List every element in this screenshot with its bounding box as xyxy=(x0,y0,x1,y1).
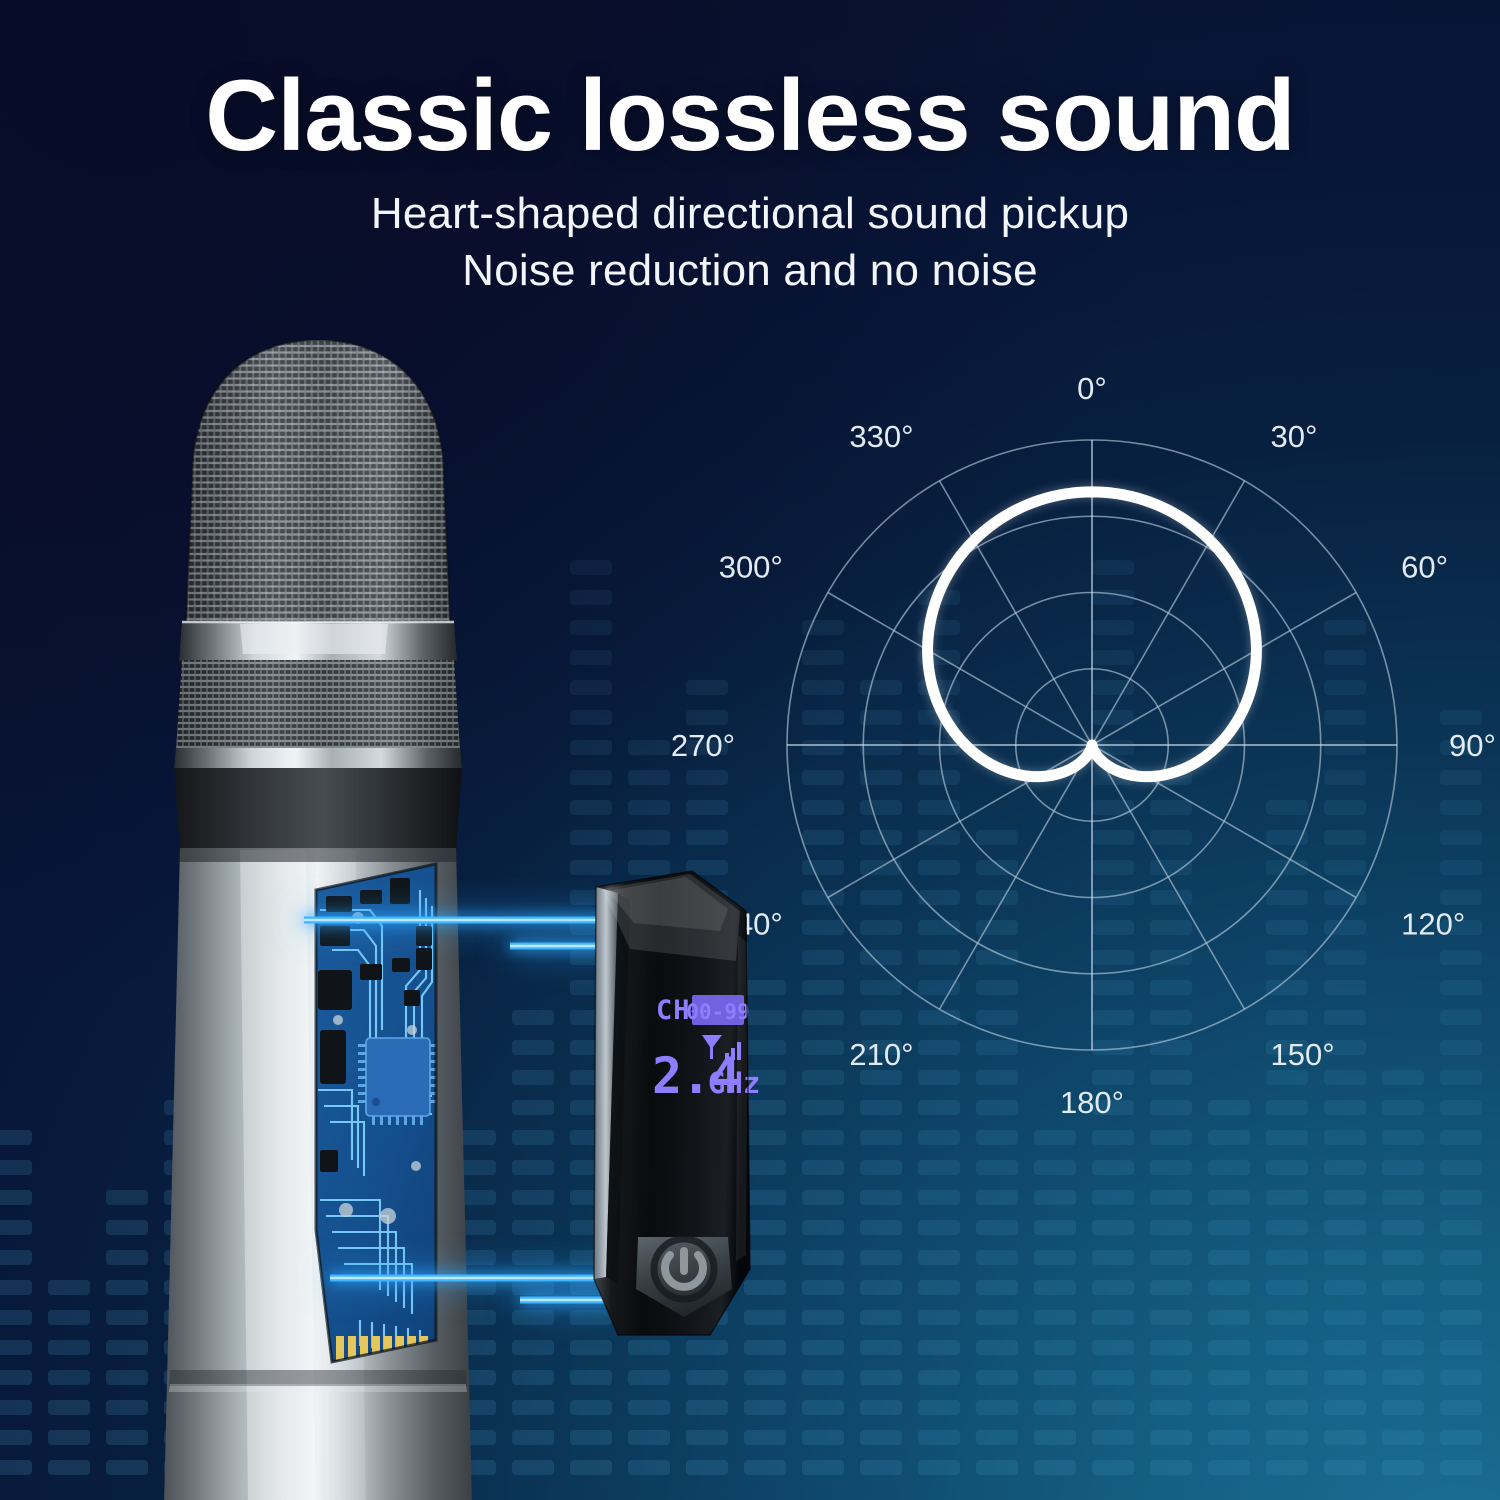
polar-grid-spoke xyxy=(1092,481,1245,745)
equalizer-bar xyxy=(860,1340,902,1355)
equalizer-bar xyxy=(1034,1250,1076,1265)
polar-grid-spoke xyxy=(940,481,1093,745)
equalizer-bar xyxy=(802,1460,844,1475)
equalizer-bar xyxy=(1440,1190,1482,1205)
equalizer-bar xyxy=(1208,1310,1250,1325)
equalizer-bar xyxy=(1150,1430,1192,1445)
equalizer-bar xyxy=(1440,1370,1482,1385)
equalizer-bar xyxy=(1092,1460,1134,1475)
equalizer-bar xyxy=(1382,1190,1424,1205)
equalizer-bar xyxy=(1208,1250,1250,1265)
equalizer-bar xyxy=(1150,1220,1192,1235)
equalizer-bar xyxy=(1266,1280,1308,1295)
equalizer-bar xyxy=(1208,1430,1250,1445)
equalizer-bar xyxy=(1034,1160,1076,1175)
equalizer-bar xyxy=(0,1310,32,1325)
equalizer-bar xyxy=(1092,1250,1134,1265)
lcd-channel-label: CH xyxy=(656,995,691,1026)
equalizer-bar xyxy=(1440,1340,1482,1355)
equalizer-bar xyxy=(1034,1310,1076,1325)
equalizer-bar xyxy=(1382,1250,1424,1265)
equalizer-bar xyxy=(1266,1370,1308,1385)
equalizer-bar xyxy=(1440,1280,1482,1295)
polar-angle-label: 0° xyxy=(1077,371,1107,406)
equalizer-bar xyxy=(1150,1190,1192,1205)
equalizer-bar xyxy=(1324,1280,1366,1295)
equalizer-bar xyxy=(628,1370,670,1385)
equalizer-bar xyxy=(918,1400,960,1415)
lcd-frequency-unit: GHz xyxy=(708,1066,760,1100)
polar-angle-label: 30° xyxy=(1271,419,1318,454)
equalizer-bar xyxy=(976,1310,1018,1325)
equalizer-bar xyxy=(1266,1220,1308,1235)
equalizer-bar xyxy=(1440,1460,1482,1475)
polar-angle-label: 210° xyxy=(849,1037,913,1072)
equalizer-bar xyxy=(1266,1310,1308,1325)
equalizer-bar xyxy=(1266,1340,1308,1355)
equalizer-bar xyxy=(628,830,670,845)
equalizer-bar xyxy=(918,1220,960,1235)
equalizer-bar xyxy=(48,1280,90,1295)
equalizer-bar xyxy=(976,1340,1018,1355)
mic-neck xyxy=(174,768,462,850)
equalizer-bar xyxy=(1440,1430,1482,1445)
equalizer-bar xyxy=(0,1400,32,1415)
equalizer-bar xyxy=(802,1400,844,1415)
equalizer-bar xyxy=(1324,1190,1366,1205)
equalizer-bar xyxy=(1324,1310,1366,1325)
mic-lower-grille-band xyxy=(160,650,490,760)
equalizer-bar xyxy=(1440,1220,1482,1235)
equalizer-bar xyxy=(1208,1340,1250,1355)
equalizer-bar xyxy=(1208,1280,1250,1295)
equalizer-bar xyxy=(628,1400,670,1415)
equalizer-bar xyxy=(1440,1160,1482,1175)
equalizer-bar xyxy=(1150,1160,1192,1175)
equalizer-bar xyxy=(1208,1400,1250,1415)
equalizer-bar xyxy=(1208,1160,1250,1175)
equalizer-bar xyxy=(976,1250,1018,1265)
equalizer-bar xyxy=(918,1310,960,1325)
polar-grid-spoke xyxy=(828,593,1092,746)
equalizer-bar xyxy=(48,1460,90,1475)
equalizer-bar xyxy=(860,1190,902,1205)
polar-angle-label: 90° xyxy=(1449,728,1496,763)
equalizer-bar xyxy=(744,1460,786,1475)
equalizer-bar xyxy=(744,1370,786,1385)
mic-grille-head xyxy=(170,330,480,630)
equalizer-bar xyxy=(686,1460,728,1475)
equalizer-bar xyxy=(1324,1460,1366,1475)
equalizer-bar xyxy=(48,1340,90,1355)
equalizer-bar xyxy=(1382,1460,1424,1475)
equalizer-bar xyxy=(0,1460,32,1475)
equalizer-bar xyxy=(0,1280,32,1295)
equalizer-bar xyxy=(1266,1160,1308,1175)
equalizer-bar xyxy=(1324,1220,1366,1235)
equalizer-bar xyxy=(1092,1430,1134,1445)
equalizer-bar xyxy=(860,1220,902,1235)
equalizer-bar xyxy=(1382,1430,1424,1445)
equalizer-bar xyxy=(1382,1340,1424,1355)
equalizer-bar xyxy=(1324,1400,1366,1415)
polar-angle-label: 150° xyxy=(1271,1037,1335,1072)
equalizer-bar xyxy=(1150,1460,1192,1475)
polar-grid-spoke xyxy=(1092,745,1245,1009)
equalizer-bar xyxy=(1208,1460,1250,1475)
equalizer-bar xyxy=(860,1250,902,1265)
equalizer-bar xyxy=(976,1460,1018,1475)
equalizer-bar xyxy=(1324,1160,1366,1175)
equalizer-bar xyxy=(1208,1190,1250,1205)
equalizer-bar xyxy=(1150,1370,1192,1385)
polar-angle-label: 60° xyxy=(1401,550,1448,585)
equalizer-bar xyxy=(918,1250,960,1265)
equalizer-bar xyxy=(628,770,670,785)
polar-grid-spoke xyxy=(1092,593,1356,746)
equalizer-bar xyxy=(860,1460,902,1475)
equalizer-bar xyxy=(1034,1430,1076,1445)
equalizer-bar xyxy=(0,1220,32,1235)
equalizer-bar xyxy=(860,1280,902,1295)
lcd-channel-value: 00-99 xyxy=(686,1000,749,1024)
polar-angle-label: 330° xyxy=(849,419,913,454)
equalizer-bar xyxy=(918,1460,960,1475)
equalizer-bar xyxy=(1092,1370,1134,1385)
microphone-illustration xyxy=(120,330,600,1500)
equalizer-bar xyxy=(1034,1220,1076,1235)
equalizer-bar xyxy=(1382,1310,1424,1325)
polar-grid-spoke xyxy=(1092,745,1356,898)
equalizer-bar xyxy=(860,1400,902,1415)
equalizer-bar xyxy=(48,1370,90,1385)
equalizer-bar xyxy=(1150,1250,1192,1265)
equalizer-bar xyxy=(918,1370,960,1385)
equalizer-bar xyxy=(1034,1340,1076,1355)
equalizer-bar xyxy=(918,1190,960,1205)
equalizer-bar xyxy=(860,1310,902,1325)
equalizer-bar xyxy=(976,1370,1018,1385)
polar-pattern-chart: 0°30°60°90°120°150°180°210°240°270°300°3… xyxy=(702,355,1482,1135)
wireless-receiver-device: CH 00-99 2.4 GHz xyxy=(560,865,810,1350)
equalizer-bar xyxy=(0,1130,32,1145)
equalizer-bar xyxy=(1150,1310,1192,1325)
equalizer-bar xyxy=(1440,1250,1482,1265)
equalizer-bar xyxy=(976,1160,1018,1175)
equalizer-bar xyxy=(0,1370,32,1385)
equalizer-bar xyxy=(1208,1370,1250,1385)
equalizer-bar xyxy=(1034,1370,1076,1385)
equalizer-bar xyxy=(1382,1400,1424,1415)
equalizer-bar xyxy=(860,1160,902,1175)
equalizer-bar xyxy=(860,1430,902,1445)
polar-angle-label: 300° xyxy=(719,550,783,585)
equalizer-bar xyxy=(1150,1280,1192,1295)
equalizer-bar xyxy=(1034,1460,1076,1475)
equalizer-bar xyxy=(918,1280,960,1295)
equalizer-bar xyxy=(976,1400,1018,1415)
equalizer-bar xyxy=(744,1400,786,1415)
equalizer-bar xyxy=(1092,1400,1134,1415)
equalizer-bar xyxy=(1382,1280,1424,1295)
equalizer-bar xyxy=(860,1370,902,1385)
polar-angle-label: 270° xyxy=(671,728,735,763)
product-infographic: 0°30°60°90°120°150°180°210°240°270°300°3… xyxy=(0,0,1500,1500)
equalizer-bar xyxy=(1266,1250,1308,1265)
equalizer-bar xyxy=(0,1250,32,1265)
equalizer-bar xyxy=(976,1190,1018,1205)
equalizer-bar xyxy=(1092,1220,1134,1235)
equalizer-bar xyxy=(1440,1310,1482,1325)
equalizer-bar xyxy=(1092,1310,1134,1325)
equalizer-bar xyxy=(628,800,670,815)
equalizer-bar xyxy=(0,1190,32,1205)
equalizer-bar xyxy=(1092,1280,1134,1295)
equalizer-bar xyxy=(628,1430,670,1445)
polar-grid-spoke xyxy=(940,745,1093,1009)
equalizer-bar xyxy=(1266,1460,1308,1475)
equalizer-bar xyxy=(976,1430,1018,1445)
equalizer-bar xyxy=(1266,1400,1308,1415)
equalizer-bar xyxy=(1092,1190,1134,1205)
equalizer-bar xyxy=(1382,1160,1424,1175)
equalizer-bar xyxy=(48,1430,90,1445)
equalizer-bar xyxy=(918,1430,960,1445)
equalizer-bar xyxy=(0,1340,32,1355)
equalizer-bar xyxy=(918,1160,960,1175)
equalizer-bar xyxy=(918,1340,960,1355)
equalizer-bar xyxy=(1324,1250,1366,1265)
equalizer-bar xyxy=(1324,1370,1366,1385)
equalizer-bar xyxy=(1150,1340,1192,1355)
equalizer-bar xyxy=(1150,1400,1192,1415)
equalizer-bar xyxy=(1440,1400,1482,1415)
equalizer-bar xyxy=(1266,1190,1308,1205)
equalizer-bar xyxy=(0,1160,32,1175)
polar-angle-label: 180° xyxy=(1060,1085,1124,1120)
mic-lower-rim xyxy=(174,748,462,770)
equalizer-bar xyxy=(1034,1190,1076,1205)
equalizer-bar xyxy=(802,1430,844,1445)
equalizer-bar xyxy=(744,1430,786,1445)
equalizer-bar xyxy=(686,1400,728,1415)
equalizer-bar xyxy=(1382,1220,1424,1235)
equalizer-bar xyxy=(48,1400,90,1415)
equalizer-bar xyxy=(1208,1220,1250,1235)
equalizer-bar xyxy=(686,1370,728,1385)
polar-grid-spoke xyxy=(828,745,1092,898)
equalizer-bar xyxy=(1092,1160,1134,1175)
equalizer-bar xyxy=(628,740,670,755)
equalizer-bar xyxy=(1034,1400,1076,1415)
equalizer-bar xyxy=(686,1430,728,1445)
equalizer-bar xyxy=(1266,1430,1308,1445)
equalizer-bar xyxy=(1324,1430,1366,1445)
equalizer-bar xyxy=(48,1310,90,1325)
equalizer-bar xyxy=(628,1460,670,1475)
polar-angle-label: 120° xyxy=(1401,907,1465,942)
equalizer-bar xyxy=(1382,1370,1424,1385)
equalizer-bar xyxy=(1324,1340,1366,1355)
equalizer-bar xyxy=(0,1430,32,1445)
equalizer-bar xyxy=(802,1370,844,1385)
equalizer-bar xyxy=(1092,1340,1134,1355)
equalizer-bar xyxy=(1034,1280,1076,1295)
mic-chrome-band-ring xyxy=(179,622,457,662)
mic-pcb-cutaway-window xyxy=(306,850,456,1380)
equalizer-bar xyxy=(976,1220,1018,1235)
equalizer-bar xyxy=(976,1280,1018,1295)
